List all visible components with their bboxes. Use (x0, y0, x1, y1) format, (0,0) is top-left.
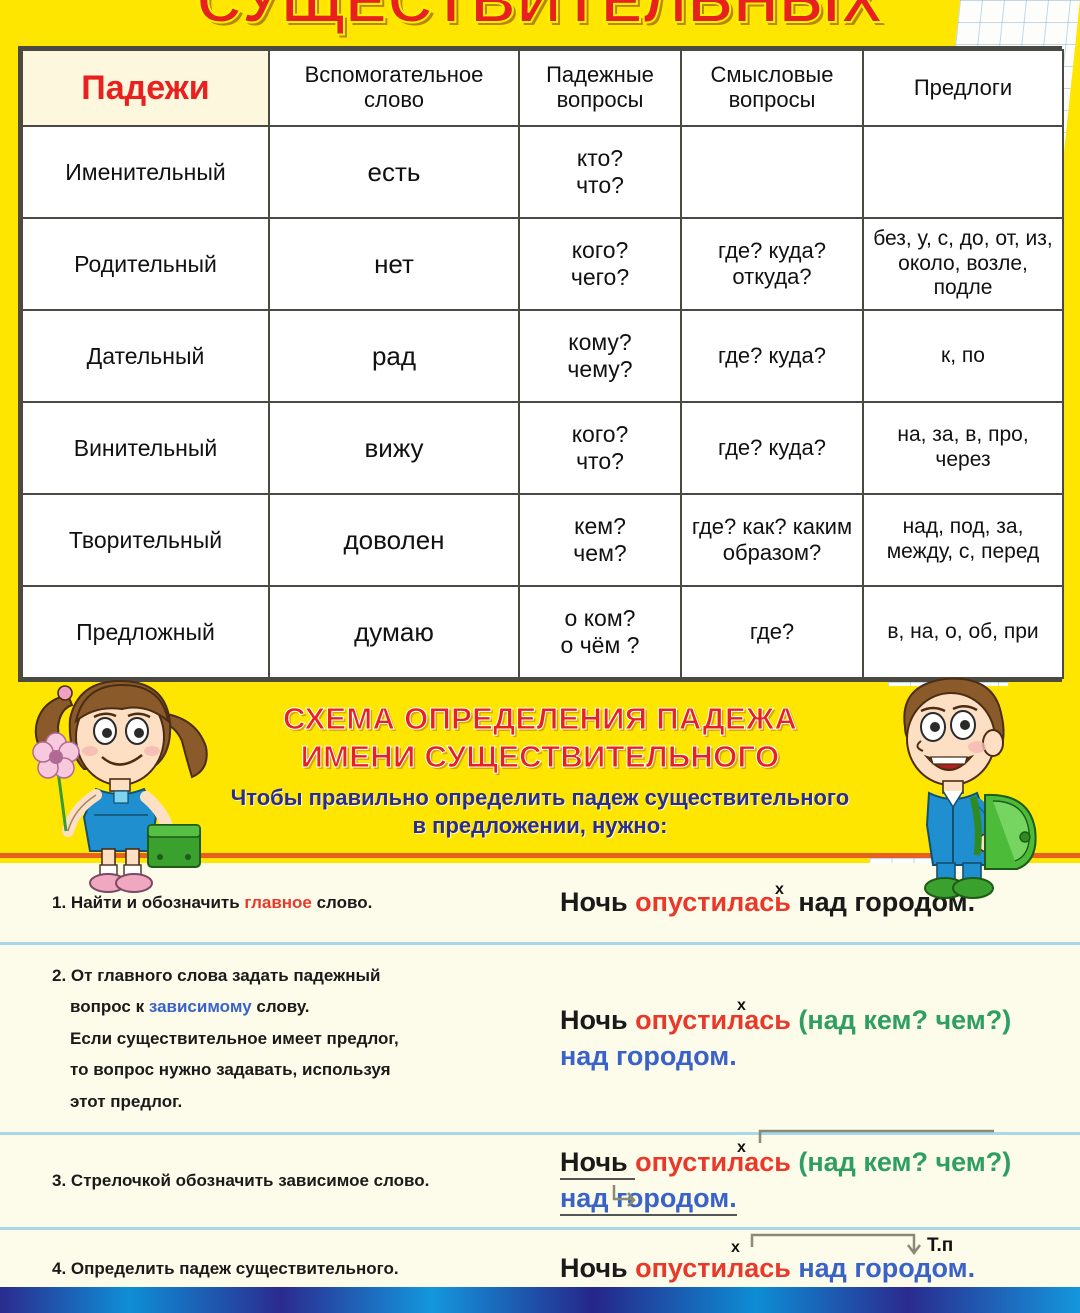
case-questions-cell: о ком? о чём ? (519, 586, 681, 678)
case-questions-cell: кто? что? (519, 126, 681, 218)
case-question-line: что? (523, 172, 677, 199)
boy-illustration (877, 665, 1062, 900)
column-header-meaning-questions: Смысловые вопросы (681, 50, 863, 126)
case-question-line: о чём ? (523, 632, 677, 659)
step-2-example: х Ночь опустилась (над кем? чем?) над го… (554, 1003, 1066, 1074)
helper-word-cell: нет (269, 218, 519, 310)
step-3-text: 3. Стрелочкой обозначить зависимое слово… (14, 1165, 554, 1196)
step-1-highlight: главное (244, 893, 311, 912)
step-2-highlight: зависимому (149, 997, 252, 1016)
prepositions-cell: без, у, с, до, от, из, около, возле, под… (863, 218, 1063, 310)
example-word-subject: Ночь (560, 1253, 635, 1283)
case-questions-cell: кого? что? (519, 402, 681, 494)
case-name-cell: Творительный (22, 494, 269, 586)
case-questions-cell: кем? чем? (519, 494, 681, 586)
case-question-line: кем? (523, 513, 677, 540)
step-3-text-body: Стрелочкой обозначить зависимое слово. (71, 1171, 429, 1190)
cases-table: Падежи Вспомогательное слово Падежные во… (21, 49, 1064, 679)
step-1-number: 1. (52, 893, 66, 912)
table-row: Творительный доволен кем? чем? где? как?… (22, 494, 1063, 586)
column-header-helper-word: Вспомогательное слово (269, 50, 519, 126)
poster-root: СУЩЕСТВИТЕЛЬНЫХ Падежи Вспомогательное с… (0, 0, 1080, 1313)
case-question-line: что? (523, 448, 677, 475)
poster-top-title-band: СУЩЕСТВИТЕЛЬНЫХ (0, 0, 1080, 40)
column-header-prepositions: Предлоги (863, 50, 1063, 126)
x-mark-icon: х (731, 1237, 740, 1258)
case-label: Т.п (927, 1233, 953, 1258)
case-name-cell: Именительный (22, 126, 269, 218)
case-question-line: кому? (523, 329, 677, 356)
step-2-line-2-before: вопрос к (70, 997, 149, 1016)
example-word-main: опустилась (635, 1005, 798, 1035)
step-1-text-after: слово. (312, 893, 372, 912)
step-2-line-3: Если существительное имеет предлог, (52, 1023, 554, 1054)
table-header-row: Падежи Вспомогательное слово Падежные во… (22, 50, 1063, 126)
example-word-dependent: над городом. (560, 1041, 737, 1071)
case-name-cell: Родительный (22, 218, 269, 310)
case-questions-cell: кого? чего? (519, 218, 681, 310)
page-title: СУЩЕСТВИТЕЛЬНЫХ (197, 0, 884, 37)
scheme-title-line-1: СХЕМА ОПРЕДЕЛЕНИЯ ПАДЕЖА (283, 701, 797, 736)
column-header-cases: Падежи (22, 50, 269, 126)
step-1-text-before: Найти и обозначить (71, 893, 244, 912)
case-question-line: кто? (523, 145, 677, 172)
meaning-questions-cell (681, 126, 863, 218)
x-mark-icon: х (737, 995, 746, 1016)
cases-table-container: Падежи Вспомогательное слово Падежные во… (18, 46, 1062, 682)
step-2-number: 2. (52, 966, 66, 985)
step-2-line-2: вопрос к зависимому слову. (52, 991, 554, 1022)
case-question-line: кого? (523, 421, 677, 448)
table-row: Родительный нет кого? чего? где? куда? о… (22, 218, 1063, 310)
step-2-line-4: то вопрос нужно задавать, используя (52, 1054, 554, 1085)
cases-table-header: Падежи Вспомогательное слово Падежные во… (22, 50, 1063, 126)
example-word-main: опустилась (635, 1147, 798, 1177)
instruction-step-3: 3. Стрелочкой обозначить зависимое слово… (0, 1135, 1080, 1230)
instruction-step-2: 2. От главного слова задать падежный воп… (0, 945, 1080, 1135)
step-4-line: 4. Определить падеж существительного. (52, 1253, 554, 1284)
example-question: (над кем? чем?) (798, 1147, 1011, 1177)
bottom-color-bar (0, 1287, 1080, 1313)
helper-word-cell: вижу (269, 402, 519, 494)
step-2-line-2-after: слову. (252, 997, 310, 1016)
helper-word-cell: рад (269, 310, 519, 402)
column-header-case-questions: Падежные вопросы (519, 50, 681, 126)
step-3-example: х Ночь опустилась (над кем? чем?) над го… (554, 1145, 1066, 1216)
instruction-steps: 1. Найти и обозначить главное слово. х Н… (0, 863, 1080, 1287)
case-question-line: о ком? (523, 605, 677, 632)
step-2-text: 2. От главного слова задать падежный воп… (14, 960, 554, 1117)
case-question-line: чем? (523, 540, 677, 567)
step-4-text: 4. Определить падеж существительного. (14, 1253, 554, 1284)
table-row: Именительный есть кто? что? (22, 126, 1063, 218)
scheme-subtitle-line-1: Чтобы правильно определить падеж существ… (231, 785, 849, 810)
case-question-line: чего? (523, 264, 677, 291)
prepositions-cell (863, 126, 1063, 218)
step-2-line-5: этот предлог. (52, 1086, 554, 1117)
x-mark-icon: х (737, 1137, 746, 1158)
step-4-example: х Т.п Ночь опустилась над городом. (554, 1251, 1066, 1287)
scheme-subtitle-line-2: в предложении, нужно: (413, 813, 668, 838)
step-4-number: 4. (52, 1259, 66, 1278)
step-2-line-1-text: От главного слова задать падежный (71, 966, 381, 985)
helper-word-cell: есть (269, 126, 519, 218)
meaning-questions-cell: где? куда? (681, 402, 863, 494)
meaning-questions-cell: где? куда? откуда? (681, 218, 863, 310)
case-question-line: кого? (523, 237, 677, 264)
example-word-dependent: над городом. (560, 1183, 737, 1216)
case-name-cell: Дательный (22, 310, 269, 402)
helper-word-cell: доволен (269, 494, 519, 586)
table-row: Винительный вижу кого? что? где? куда? н… (22, 402, 1063, 494)
case-name-cell: Винительный (22, 402, 269, 494)
prepositions-cell: над, под, за, между, с, перед (863, 494, 1063, 586)
example-word-subject: Ночь (560, 1147, 635, 1180)
case-questions-cell: кому? чему? (519, 310, 681, 402)
example-word-main: опустилась (635, 1253, 798, 1283)
step-3-line: 3. Стрелочкой обозначить зависимое слово… (52, 1165, 554, 1196)
example-word-subject: Ночь (560, 1005, 635, 1035)
step-2-line-1: 2. От главного слова задать падежный (52, 960, 554, 991)
example-word-subject: Ночь (560, 887, 628, 917)
meaning-questions-cell: где? как? каким образом? (681, 494, 863, 586)
girl-illustration (10, 665, 260, 895)
scheme-title-line-2: ИМЕНИ СУЩЕСТВИТЕЛЬНОГО (301, 739, 780, 774)
step-4-text-body: Определить падеж существительного. (71, 1259, 399, 1278)
table-row: Дательный рад кому? чему? где? куда? к, … (22, 310, 1063, 402)
prepositions-cell: к, по (863, 310, 1063, 402)
case-question-line: чему? (523, 356, 677, 383)
cases-table-body: Именительный есть кто? что? Родительный … (22, 126, 1063, 678)
helper-word-cell: думаю (269, 586, 519, 678)
meaning-questions-cell: где? куда? (681, 310, 863, 402)
example-word-main: опустилась (635, 887, 791, 917)
step-3-number: 3. (52, 1171, 66, 1190)
prepositions-cell: на, за, в, про, через (863, 402, 1063, 494)
meaning-questions-cell: где? (681, 586, 863, 678)
x-mark-icon: х (775, 879, 784, 900)
example-question: (над кем? чем?) (798, 1005, 1011, 1035)
